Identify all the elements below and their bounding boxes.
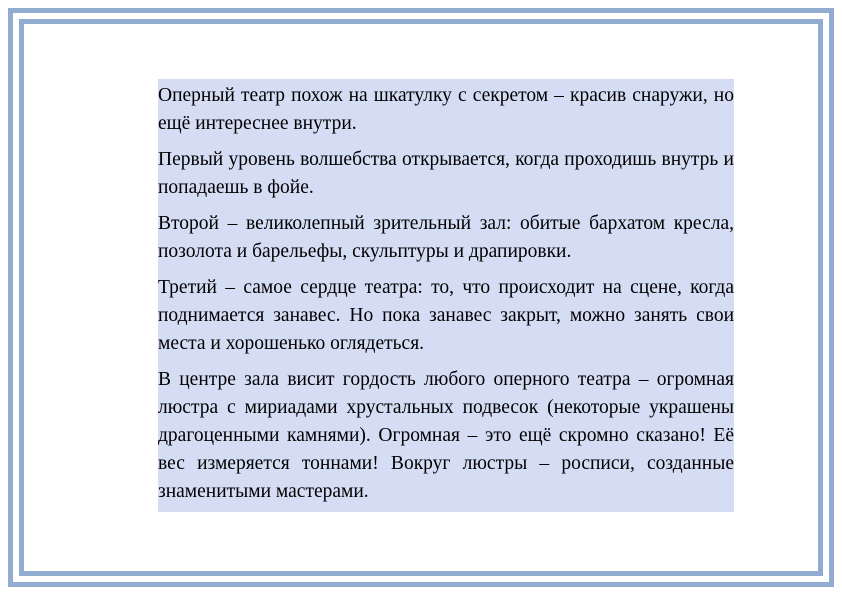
paragraph-2: Первый уровень волшебства открывается, к… (158, 146, 734, 202)
paragraph-1: Оперный театр похож на шкатулку с секрет… (158, 79, 734, 138)
paragraph-5: В центре зала висит гордость любого опер… (158, 366, 734, 512)
text-content-block: Оперный театр похож на шкатулку с секрет… (158, 79, 734, 512)
paragraph-3: Второй – великолепный зрительный зал: об… (158, 210, 734, 266)
paragraph-4: Третий – самое сердце театра: то, что пр… (158, 274, 734, 358)
slide-canvas: Оперный театр похож на шкатулку с секрет… (0, 0, 842, 595)
